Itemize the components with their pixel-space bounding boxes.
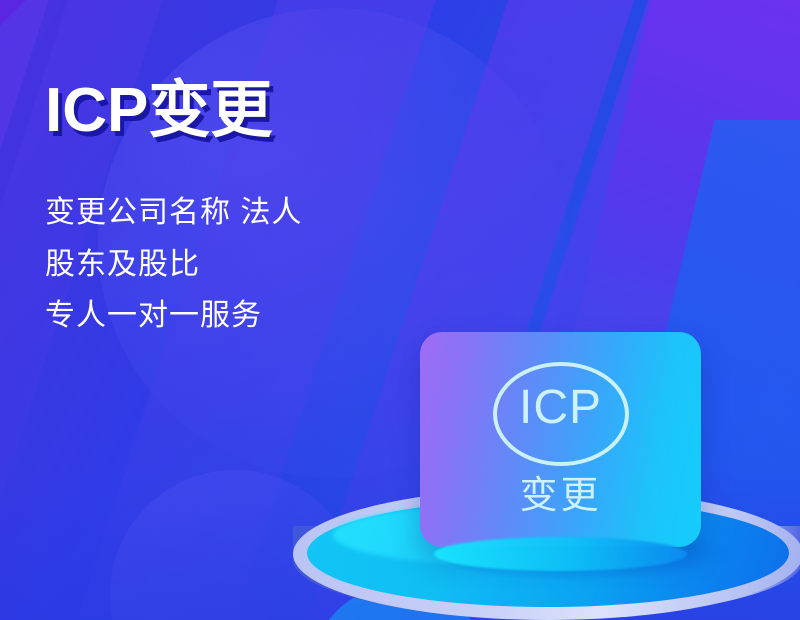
card-base-glow: [434, 537, 687, 571]
subtitle-line-1: 变更公司名称 法人: [45, 187, 445, 239]
card-badge-text: ICP: [519, 384, 602, 432]
page-title: ICP变更: [45, 78, 445, 143]
corner-triangle-icon: [0, 0, 26, 26]
icp-promo-banner: ICP 变更 ICP变更 变更公司名称 法人 股东及股比 专人一对一服务: [0, 0, 800, 620]
card-badge-label: 变更: [519, 477, 601, 515]
banner-subtitle: 变更公司名称 法人 股东及股比 专人一对一服务: [45, 143, 445, 342]
subtitle-line-3: 专人一对一服务: [45, 290, 445, 342]
subtitle-line-2: 股东及股比: [45, 239, 445, 291]
banner-copy: ICP变更 变更公司名称 法人 股东及股比 专人一对一服务: [45, 78, 445, 342]
icp-card[interactable]: ICP 变更: [420, 332, 701, 547]
